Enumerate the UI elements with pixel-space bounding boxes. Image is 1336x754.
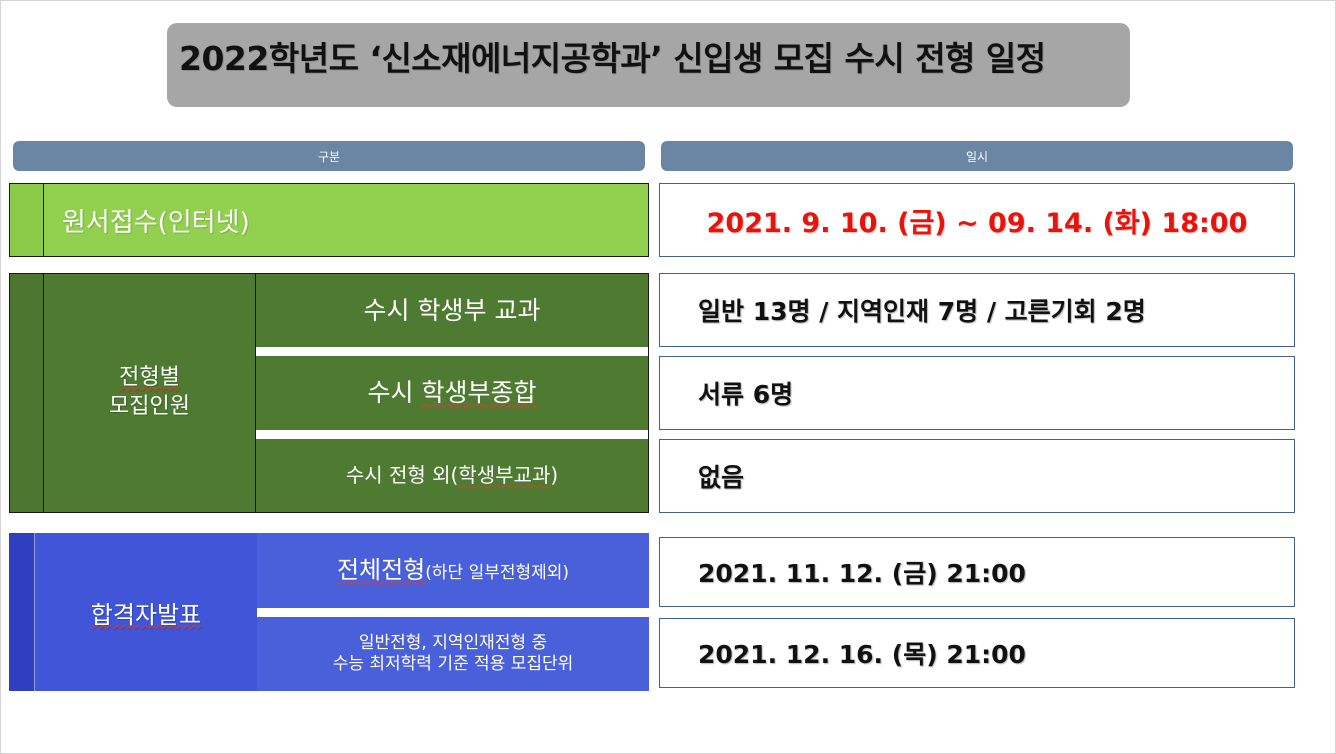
row-application-label: 원서접수(인터넷) (44, 184, 648, 256)
row-result-label-text: 합격자발표 (91, 595, 201, 630)
subrow-minimum-csat: 일반전형, 지역인재전형 중 수능 최저학력 기준 적용 모집단위 (257, 617, 649, 692)
subrow-all-types-label: 전체전형(하단 일부전형제외) (337, 555, 569, 585)
value-quota-jonghap: 서류 6명 (659, 356, 1295, 430)
subrow-divider (256, 347, 648, 356)
value-result-date-all-text: 2021. 11. 12. (금) 21:00 (698, 554, 1026, 590)
value-quota-jonghap-text: 서류 6명 (698, 375, 793, 411)
column-header-datetime-label: 일시 (966, 148, 988, 165)
value-quota-gyogwa: 일반 13명 / 지역인재 7명 / 고른기회 2명 (659, 273, 1295, 347)
row-result-category: 합격자발표 전체전형(하단 일부전형제외) 일반전형, 지역인재전형 중 수능 … (9, 533, 649, 691)
subrow-susi-jonghap: 수시 학생부종합 (256, 356, 648, 429)
subrow-divider (257, 608, 649, 617)
value-quota-other-text: 없음 (698, 458, 744, 494)
row-quota-label-text: 전형별 모집인원 (109, 364, 190, 421)
row-application-category: 원서접수(인터넷) (9, 183, 649, 257)
row-quota-label-line2: 모집인원 (109, 394, 190, 419)
value-result-date-csat-text: 2021. 12. 16. (목) 21:00 (698, 635, 1026, 671)
value-quota-gyogwa-text: 일반 13명 / 지역인재 7명 / 고른기회 2명 (698, 292, 1146, 328)
subrow-susi-other: 수시 전형 외(학생부교과) (256, 439, 648, 512)
subrow-minimum-csat-label: 일반전형, 지역인재전형 중 수능 최저학력 기준 적용 모집단위 (333, 633, 574, 676)
subrow-susi-jonghap-label: 수시 학생부종합 (368, 377, 537, 408)
row-quota-label: 전형별 모집인원 (44, 274, 256, 512)
value-result-date-all: 2021. 11. 12. (금) 21:00 (659, 537, 1295, 607)
value-application-period-text: 2021. 9. 10. (금) ~ 09. 14. (화) 18:00 (707, 201, 1248, 240)
row-accent-bar (9, 533, 35, 691)
value-application-period: 2021. 9. 10. (금) ~ 09. 14. (화) 18:00 (659, 183, 1295, 257)
row-quota-subrows: 수시 학생부 교과 수시 학생부종합 수시 전형 외(학생부교과) (256, 274, 648, 512)
row-result-subrows: 전체전형(하단 일부전형제외) 일반전형, 지역인재전형 중 수능 최저학력 기… (257, 533, 649, 691)
subrow-susi-gyogwa: 수시 학생부 교과 (256, 274, 648, 347)
value-result-date-csat: 2021. 12. 16. (목) 21:00 (659, 618, 1295, 688)
subrow-all-types: 전체전형(하단 일부전형제외) (257, 533, 649, 608)
column-header-category-label: 구분 (318, 148, 340, 165)
row-accent-bar (10, 184, 44, 256)
slide-canvas: 2022학년도 ‘신소재에너지공학과’ 신입생 모집 수시 전형 일정 구분 일… (0, 0, 1336, 754)
column-header-category: 구분 (13, 141, 645, 171)
column-header-datetime: 일시 (661, 141, 1293, 171)
page-title: 2022학년도 ‘신소재에너지공학과’ 신입생 모집 수시 전형 일정 (179, 33, 1109, 85)
row-quota-label-line1: 전형별 (119, 365, 180, 390)
row-result-label: 합격자발표 (35, 533, 257, 691)
subrow-susi-other-label: 수시 전형 외(학생부교과) (346, 463, 558, 488)
row-accent-bar (10, 274, 44, 512)
value-quota-other: 없음 (659, 439, 1295, 513)
subrow-susi-gyogwa-label: 수시 학생부 교과 (364, 295, 541, 326)
row-quota-category: 전형별 모집인원 수시 학생부 교과 수시 학생부종합 수시 전형 외(학생부교… (9, 273, 649, 513)
subrow-divider (256, 430, 648, 439)
